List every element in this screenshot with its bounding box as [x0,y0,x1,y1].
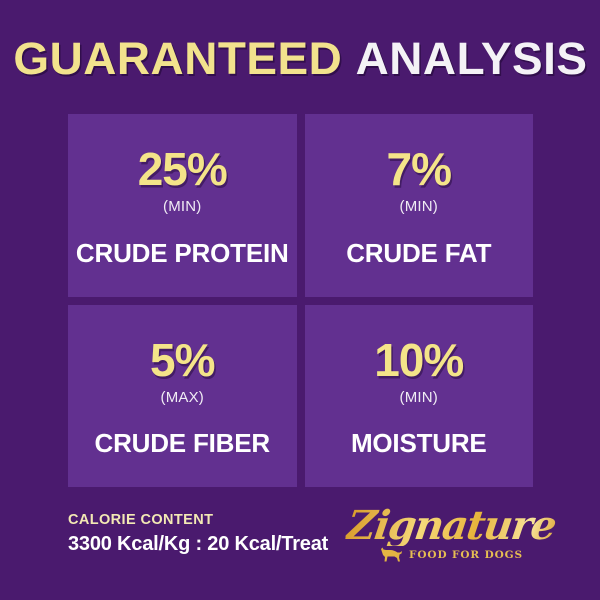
analysis-qualifier: (MAX) [161,389,205,406]
analysis-value: 25% [138,146,227,192]
analysis-label: MOISTURE [305,428,534,459]
analysis-label: CRUDE FAT [305,238,534,269]
analysis-value: 5% [150,337,214,383]
analysis-value: 10% [374,337,463,383]
page-title: GUARANTEED ANALYSIS [0,36,600,81]
brand-logo: Zignature FOOD FOR DOGS [347,506,527,580]
analysis-qualifier: (MIN) [400,389,439,406]
analysis-value: 7% [387,146,451,192]
brand-tagline: FOOD FOR DOGS [409,549,523,561]
analysis-cell-moisture: 10% (MIN) MOISTURE [305,305,534,488]
footer: CALORIE CONTENT 3300 Kcal/Kg : 20 Kcal/T… [68,512,533,582]
analysis-cell-crude-fat: 7% (MIN) CRUDE FAT [305,114,534,297]
analysis-grid: 25% (MIN) CRUDE PROTEIN 7% (MIN) CRUDE F… [68,114,533,487]
brand-name: Zignature [344,506,564,546]
title-text: GUARANTEED ANALYSIS [13,36,587,81]
title-space [342,33,355,84]
brand-tagline-row: FOOD FOR DOGS [347,547,527,562]
title-word-guaranteed: GUARANTEED [13,33,342,84]
analysis-label: CRUDE PROTEIN [68,238,297,269]
analysis-cell-crude-protein: 25% (MIN) CRUDE PROTEIN [68,114,297,297]
analysis-qualifier: (MIN) [163,198,202,215]
analysis-qualifier: (MIN) [400,198,439,215]
analysis-cell-crude-fiber: 5% (MAX) CRUDE FIBER [68,305,297,488]
dog-icon [379,547,403,562]
analysis-label: CRUDE FIBER [68,428,297,459]
title-word-analysis: ANALYSIS [355,33,587,84]
